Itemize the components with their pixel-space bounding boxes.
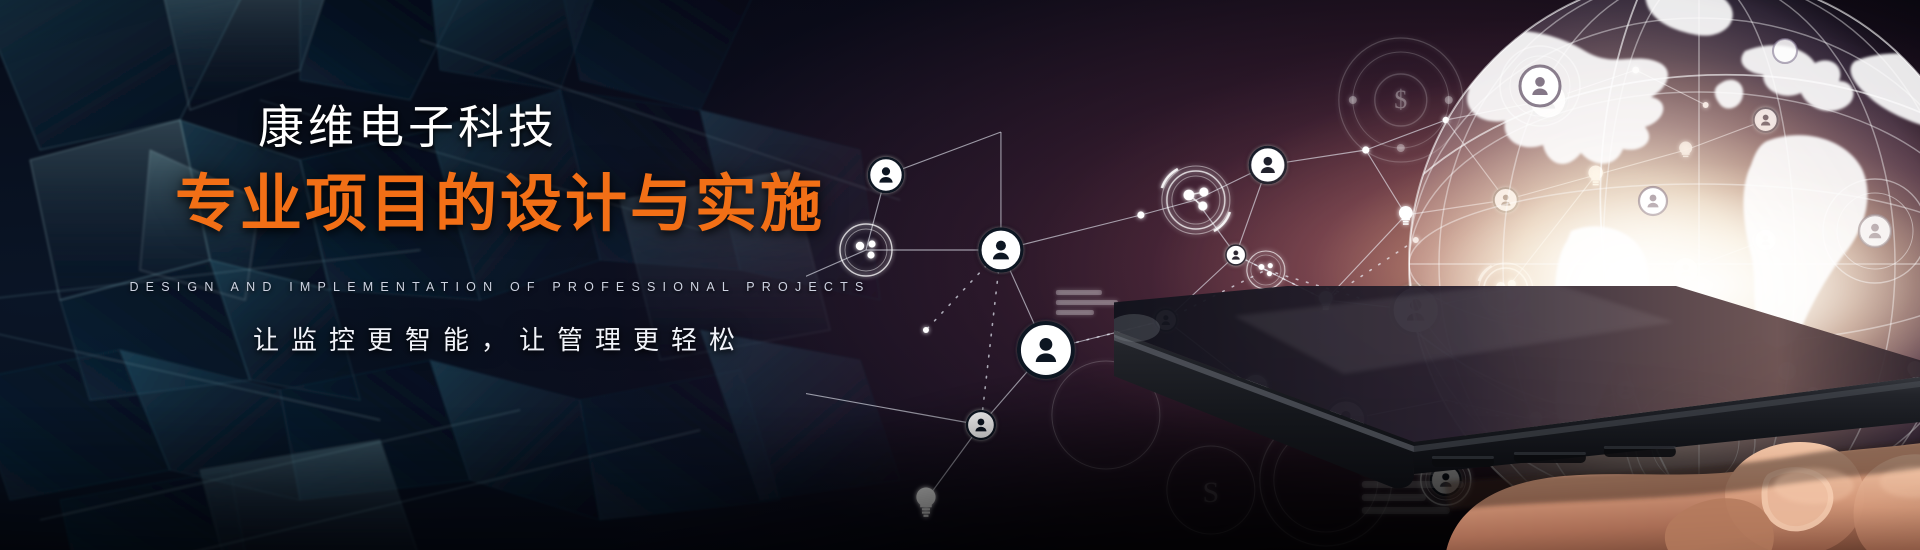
- tagline: 让监控更智能，让管理更轻松: [0, 327, 1000, 353]
- brand-title: 康维电子科技: [0, 104, 816, 150]
- background-vignette: [0, 0, 1920, 550]
- hero-banner: $ S: [0, 0, 1920, 550]
- headline-english-subline: DESIGN AND IMPLEMENTATION OF PROFESSIONA…: [0, 281, 1000, 294]
- headline: 专业项目的设计与实施: [0, 174, 1000, 236]
